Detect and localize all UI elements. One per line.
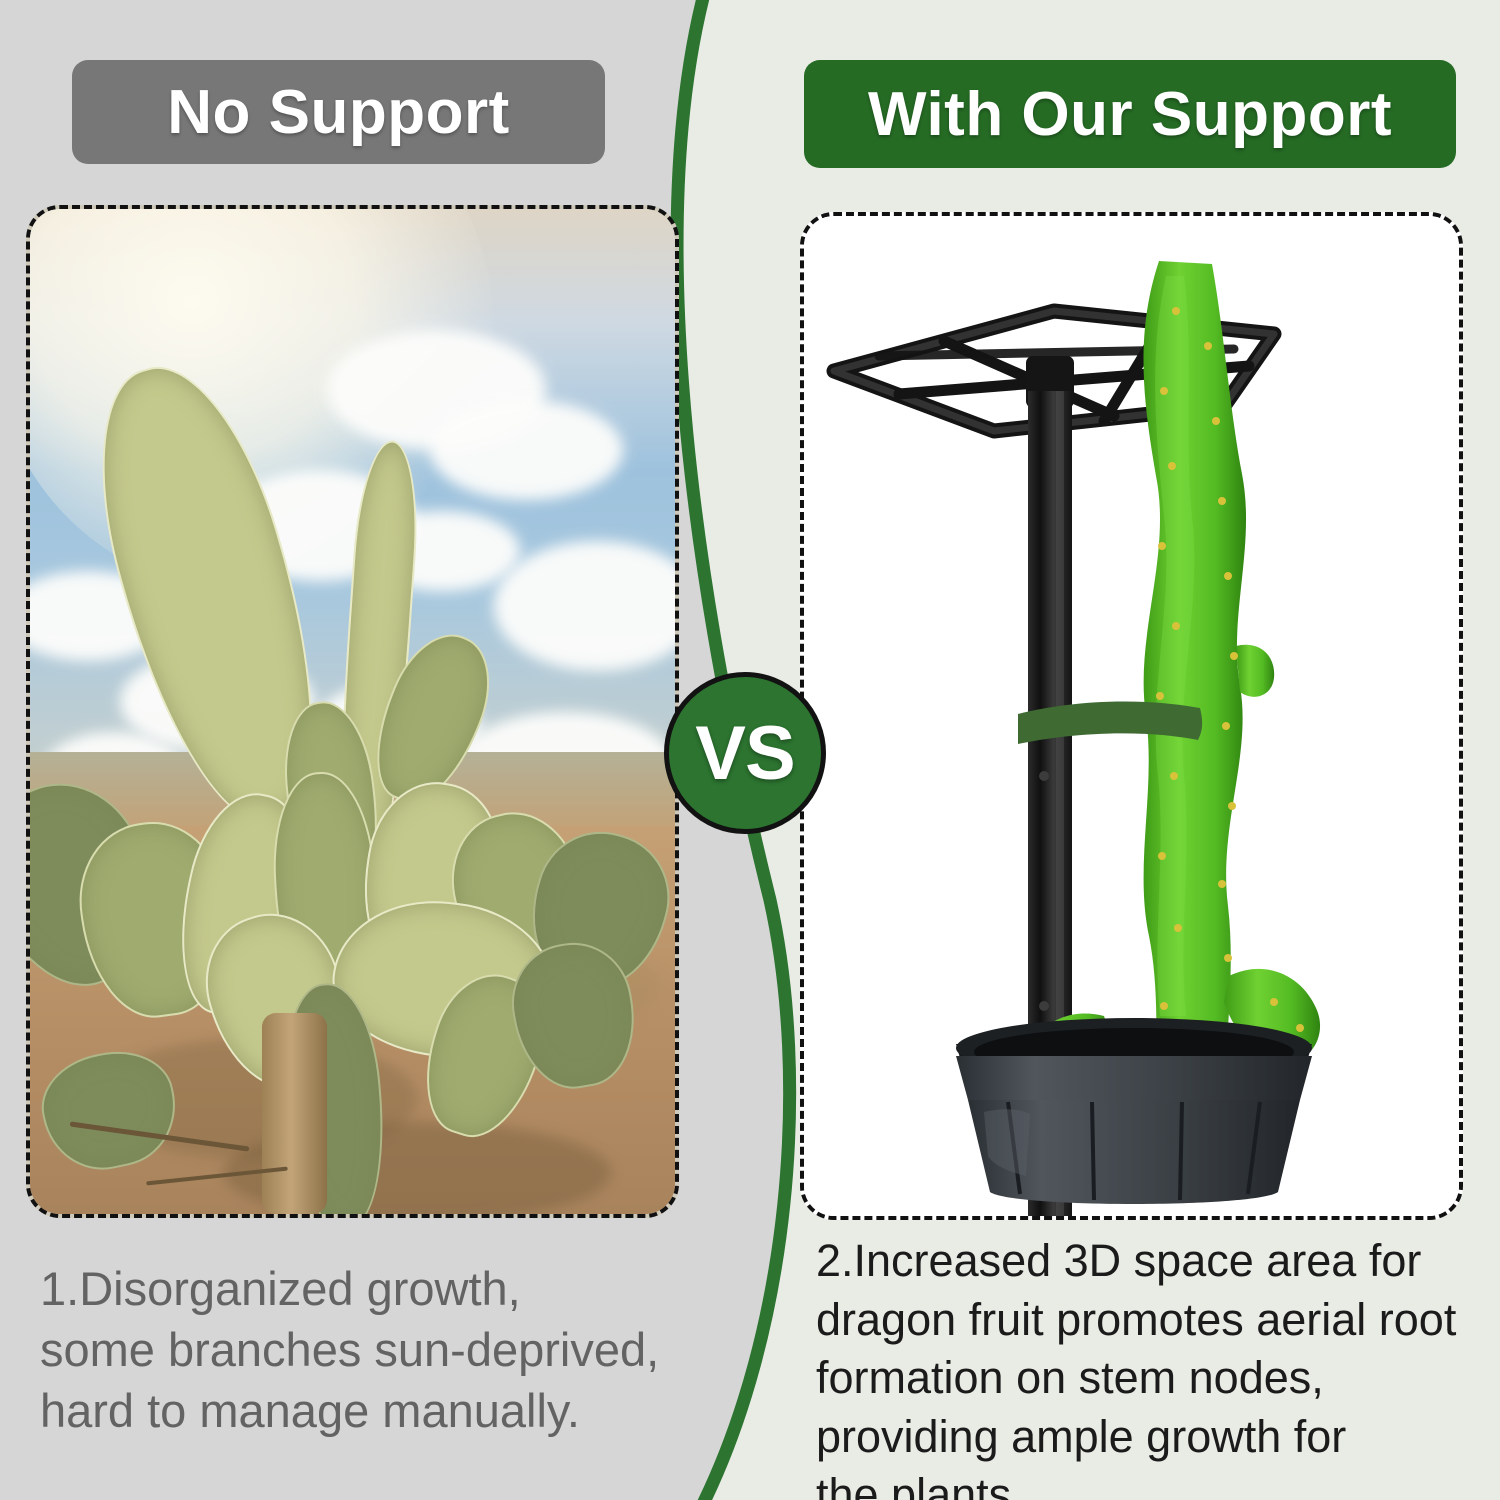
vs-badge: VS [664,672,826,834]
caption-no-support: 1.Disorganized growth, some branches sun… [40,1258,700,1441]
caption-with-support: 2.Increased 3D space area for dragon fru… [816,1232,1466,1500]
photo-no-support [26,205,679,1218]
badge-with-support: With Our Support [804,60,1456,168]
vs-label: VS [695,710,794,797]
cactus-trunk [262,1013,327,1214]
trellis-product-scene [804,216,1459,1216]
badge-with-support-label: With Our Support [868,79,1392,150]
badge-no-support-label: No Support [167,77,510,148]
plant-pot [956,1018,1312,1204]
cloud [430,400,624,501]
badge-no-support: No Support [72,60,605,164]
comparison-infographic: No Support With Our Support [0,0,1500,1500]
post-hole [1039,771,1049,781]
cactus-field-scene [30,209,675,1214]
cactus-nub [1236,645,1274,697]
post-hole [1039,1001,1049,1011]
photo-with-support [800,212,1463,1220]
